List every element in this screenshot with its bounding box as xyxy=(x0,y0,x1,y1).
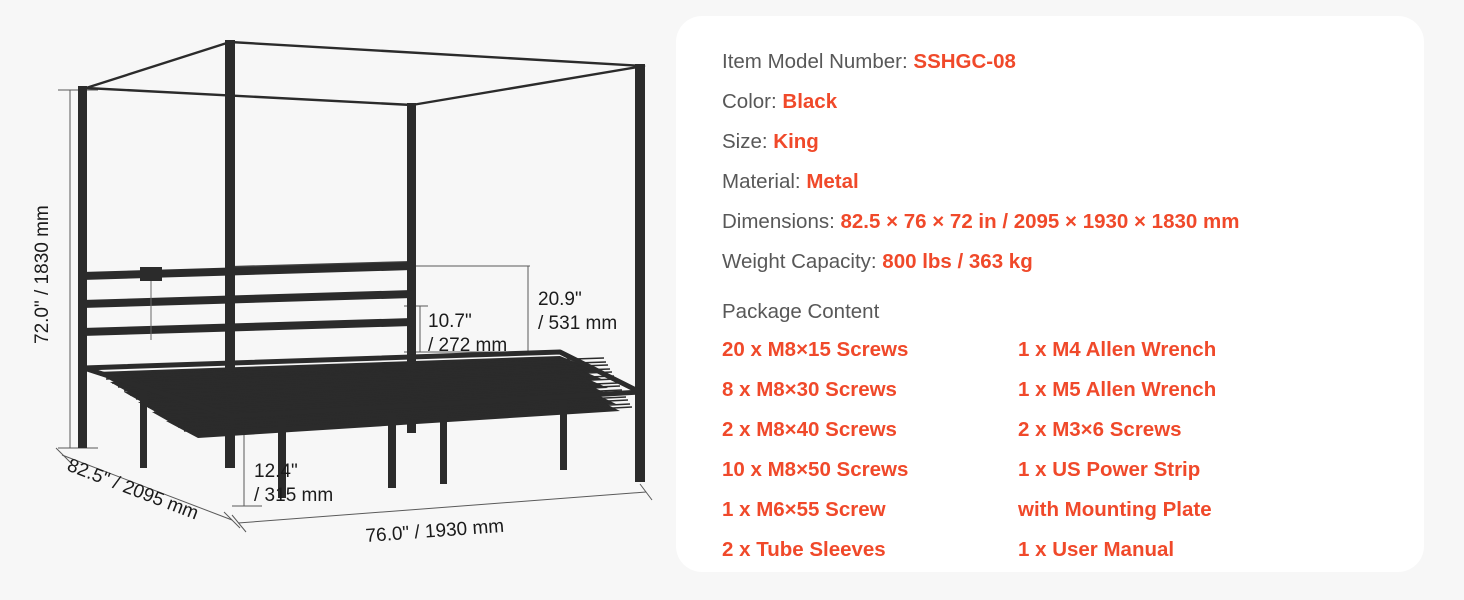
spec-label: Size: xyxy=(722,130,768,153)
package-item: 1 x US Power Strip xyxy=(1018,450,1378,490)
headboard-upper-dimension-mm: / 531 mm xyxy=(538,313,617,334)
depth-dimension-label: 82.5" / 2095 mm xyxy=(64,455,201,524)
width-dimension-label: 76.0" / 1930 mm xyxy=(365,516,505,547)
spec-label: Dimensions: xyxy=(722,210,835,233)
spec-label: Item Model Number: xyxy=(722,50,908,73)
spec-value: Black xyxy=(782,90,837,113)
canopy-top-rails xyxy=(86,42,644,105)
spec-value: SSHGC-08 xyxy=(913,50,1016,73)
product-spec-card: Item Model Number: SSHGC-08 Color: Black… xyxy=(676,16,1424,572)
headboard-lower-dimension-mm: / 272 mm xyxy=(428,335,507,356)
package-item: 1 x M4 Allen Wrench xyxy=(1018,330,1378,370)
height-dimension-label: 72.0" / 1830 mm xyxy=(32,205,53,344)
package-item: 2 x M3×6 Screws xyxy=(1018,410,1378,450)
spec-value: King xyxy=(773,130,819,153)
package-item: 20 x M8×15 Screws xyxy=(722,330,1018,370)
leg-center xyxy=(388,414,396,488)
spec-list: Item Model Number: SSHGC-08 Color: Black… xyxy=(722,42,1424,282)
spec-value: 800 lbs / 363 kg xyxy=(882,250,1032,273)
leg-right xyxy=(560,400,567,470)
clearance-dimension-mm: / 315 mm xyxy=(254,485,333,506)
spec-value: 82.5 × 76 × 72 in / 2095 × 1930 × 1830 m… xyxy=(841,210,1240,233)
spec-row-color: Color: Black xyxy=(722,82,1424,122)
headboard-rails xyxy=(82,261,412,336)
package-content-left-column: 20 x M8×15 Screws 8 x M8×30 Screws 2 x M… xyxy=(722,330,1018,570)
package-item: 2 x Tube Sleeves xyxy=(722,530,1018,570)
spec-row-dimensions: Dimensions: 82.5 × 76 × 72 in / 2095 × 1… xyxy=(722,202,1424,242)
package-item: with Mounting Plate xyxy=(1018,490,1378,530)
package-content-right-column: 1 x M4 Allen Wrench 1 x M5 Allen Wrench … xyxy=(1018,330,1378,570)
spec-row-material: Material: Metal xyxy=(722,162,1424,202)
package-content-heading: Package Content xyxy=(722,300,1424,324)
post-front-left xyxy=(78,86,87,448)
clearance-dimension-label: 12.4" xyxy=(254,461,298,482)
bed-frame-drawing: 72.0" / 1830 mm 82.5" / 2095 mm 76.0" / … xyxy=(0,0,668,600)
leg-left xyxy=(140,390,147,468)
package-item: 1 x User Manual xyxy=(1018,530,1378,570)
post-front-right xyxy=(635,64,645,482)
package-item: 1 x M6×55 Screw xyxy=(722,490,1018,530)
package-item: 1 x M5 Allen Wrench xyxy=(1018,370,1378,410)
spec-label: Color: xyxy=(722,90,777,113)
spec-label: Weight Capacity: xyxy=(722,250,877,273)
leg-center-right xyxy=(440,412,447,484)
spec-value: Metal xyxy=(806,170,858,193)
package-item: 2 x M8×40 Screws xyxy=(722,410,1018,450)
spec-label: Material: xyxy=(722,170,801,193)
spec-row-weight-capacity: Weight Capacity: 800 lbs / 363 kg xyxy=(722,242,1424,282)
package-content-columns: 20 x M8×15 Screws 8 x M8×30 Screws 2 x M… xyxy=(722,330,1424,570)
product-dimension-diagram: 72.0" / 1830 mm 82.5" / 2095 mm 76.0" / … xyxy=(0,0,668,600)
spec-row-size: Size: King xyxy=(722,122,1424,162)
headboard-upper-dimension-label: 20.9" xyxy=(538,289,582,310)
package-item: 10 x M8×50 Screws xyxy=(722,450,1018,490)
headboard-lower-dimension-label: 10.7" xyxy=(428,311,472,332)
package-item: 8 x M8×30 Screws xyxy=(722,370,1018,410)
spec-row-model: Item Model Number: SSHGC-08 xyxy=(722,42,1424,82)
